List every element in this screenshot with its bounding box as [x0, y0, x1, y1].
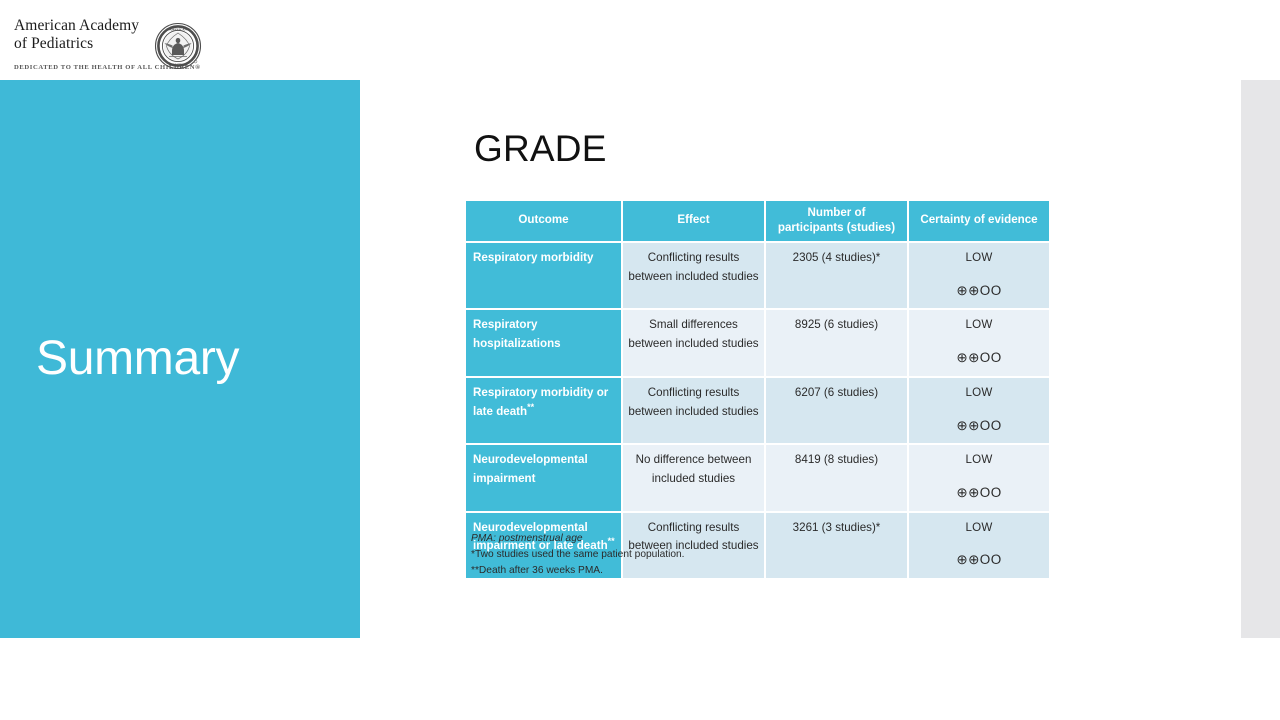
svg-text:PEDIATRICS: PEDIATRICS [169, 63, 188, 67]
cell-participants: 2305 (4 studies)* [766, 243, 907, 308]
cell-outcome: Respiratory morbidity or late death** [466, 378, 621, 443]
cell-outcome: Respiratory hospitalizations [466, 310, 621, 375]
certainty-grade: LOW [914, 384, 1044, 403]
cell-outcome-text: Neurodevelopmental impairment [473, 453, 588, 485]
certainty-symbols-icon: ⊕⊕OO [914, 349, 1044, 368]
certainty-symbols-icon: ⊕⊕OO [914, 282, 1044, 301]
cell-certainty: LOW ⊕⊕OO [909, 310, 1049, 375]
column-header-participants-line2: participants (studies) [778, 221, 895, 234]
cell-certainty: LOW ⊕⊕OO [909, 378, 1049, 443]
column-header-participants-line1: Number of [808, 206, 866, 219]
cell-outcome-text: Respiratory morbidity or late death [473, 386, 608, 418]
cell-participants: 8419 (8 studies) [766, 445, 907, 510]
cell-effect: Small differences between included studi… [623, 310, 764, 375]
footnote-abbreviation: PMA: postmenstrual age [471, 531, 685, 547]
section-title: Summary [36, 333, 239, 386]
certainty-grade: LOW [914, 249, 1044, 268]
right-accent-strip [1241, 80, 1280, 638]
cell-effect: No difference between included studies [623, 445, 764, 510]
column-header-participants: Number of participants (studies) [766, 201, 907, 241]
section-banner: Summary [0, 80, 360, 638]
aap-logo: American Academy of Pediatrics DEDICATED… [14, 14, 214, 74]
table-row: Respiratory morbidity Conflicting result… [466, 243, 1049, 308]
grade-evidence-table: Outcome Effect Number of participants (s… [464, 199, 1051, 580]
table-header-row: Outcome Effect Number of participants (s… [466, 201, 1049, 241]
aap-wordmark: American Academy of Pediatrics [14, 17, 149, 53]
certainty-grade: LOW [914, 451, 1044, 470]
cell-effect: Conflicting results between included stu… [623, 243, 764, 308]
svg-text:AMERICAN: AMERICAN [169, 27, 187, 31]
table-row: Neurodevelopmental impairment No differe… [466, 445, 1049, 510]
footnote-single-asterisk: *Two studies used the same patient popul… [471, 547, 685, 563]
cell-outcome: Neurodevelopmental impairment [466, 445, 621, 510]
column-header-outcome: Outcome [466, 201, 621, 241]
column-header-certainty: Certainty of evidence [909, 201, 1049, 241]
cell-participants: 8925 (6 studies) [766, 310, 907, 375]
column-header-effect: Effect [623, 201, 764, 241]
cell-outcome-text: Respiratory morbidity [473, 251, 593, 264]
cell-participants: 3261 (3 studies)* [766, 513, 907, 578]
cell-outcome-footnote: ** [527, 402, 534, 412]
table-footnotes: PMA: postmenstrual age *Two studies used… [471, 531, 685, 580]
cell-certainty: LOW ⊕⊕OO [909, 513, 1049, 578]
cell-outcome: Respiratory morbidity [466, 243, 621, 308]
certainty-symbols-icon: ⊕⊕OO [914, 417, 1044, 436]
certainty-grade: LOW [914, 519, 1044, 538]
cell-effect: Conflicting results between included stu… [623, 378, 764, 443]
footnote-double-asterisk: **Death after 36 weeks PMA. [471, 563, 685, 579]
cell-participants: 6207 (6 studies) [766, 378, 907, 443]
table-row: Respiratory morbidity or late death** Co… [466, 378, 1049, 443]
cell-outcome-text: Respiratory hospitalizations [473, 318, 561, 350]
certainty-symbols-icon: ⊕⊕OO [914, 484, 1044, 503]
aap-wordmark-line1: American Academy [14, 17, 149, 35]
aap-seal-icon: AMERICAN PEDIATRICS [154, 22, 202, 70]
certainty-symbols-icon: ⊕⊕OO [914, 551, 1044, 570]
page-title: GRADE [474, 128, 607, 170]
aap-wordmark-line2: of Pediatrics [14, 35, 149, 53]
cell-certainty: LOW ⊕⊕OO [909, 243, 1049, 308]
certainty-grade: LOW [914, 316, 1044, 335]
table-row: Respiratory hospitalizations Small diffe… [466, 310, 1049, 375]
cell-certainty: LOW ⊕⊕OO [909, 445, 1049, 510]
